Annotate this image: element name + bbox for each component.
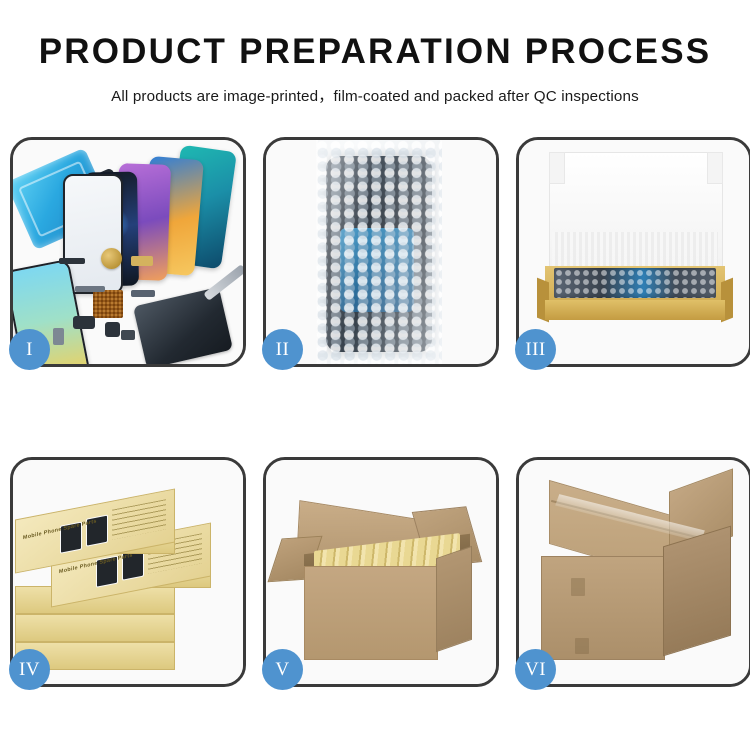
step-badge-3: III: [515, 329, 556, 370]
vibrator-icon: [121, 330, 135, 340]
step-panel-2: II: [263, 137, 499, 367]
step-badge-5: V: [262, 649, 303, 690]
sealed-carton-side: [663, 526, 731, 657]
step-6-image: [519, 460, 749, 684]
step-panel-6: VI: [516, 457, 750, 687]
camera-module-icon: [73, 316, 95, 329]
step-panel-3: III: [516, 137, 750, 367]
carton-front-face: [304, 566, 438, 660]
steps-grid: I II: [10, 137, 740, 687]
step-badge-1: I: [9, 329, 50, 370]
gold-connector-icon: [131, 256, 153, 266]
step-panel-5: V: [263, 457, 499, 687]
page-title: PRODUCT PREPARATION PROCESS: [0, 34, 750, 71]
step-panel-4: Mobile Phone Spare Parts Mobile Phone Sp…: [10, 457, 246, 687]
header: PRODUCT PREPARATION PROCESS All products…: [0, 0, 750, 106]
foam-liner-icon: [552, 232, 718, 270]
back-housing-icon: [133, 287, 233, 364]
carton-side-face: [436, 546, 472, 652]
sealed-carton-front: [541, 556, 665, 660]
chip-array-icon: [93, 290, 123, 318]
ribbon-cable-icon: [75, 286, 105, 292]
taptic-coil-icon: [101, 248, 122, 269]
step-1-image: [13, 140, 243, 364]
phone-fan-group: [73, 150, 243, 285]
step-badge-2: II: [262, 329, 303, 370]
step-3-image: [519, 140, 749, 364]
lid-flap-right: [707, 152, 723, 184]
sim-tray-icon: [53, 328, 64, 345]
bubble-wrapped-item-icon: [554, 268, 716, 298]
carton-handle-mark: [575, 638, 589, 654]
product-preparation-infographic: PRODUCT PREPARATION PROCESS All products…: [0, 0, 750, 750]
page-subtitle: All products are image-printed，film-coat…: [0, 84, 750, 106]
speaker-part-icon: [105, 322, 120, 337]
retail-box-stack: Mobile Phone Spare Parts Mobile Phone Sp…: [13, 474, 243, 684]
step-4-image: Mobile Phone Spare Parts Mobile Phone Sp…: [13, 460, 243, 684]
flex-cable-icon: [59, 258, 85, 264]
tray-front-face: [545, 300, 725, 320]
carton-handle-mark: [571, 578, 585, 596]
step-2-image: [266, 140, 496, 364]
spec-lines-print: [112, 499, 166, 539]
step-badge-6: VI: [515, 649, 556, 690]
step-5-image: [266, 460, 496, 684]
lid-flap-left: [549, 152, 565, 184]
step-panel-1: I: [10, 137, 246, 367]
antenna-flex-icon: [131, 290, 155, 297]
tempered-glass-icon: [63, 174, 123, 294]
retail-box-layer: [15, 614, 175, 642]
step-badge-4: IV: [9, 649, 50, 690]
plastic-sheen: [316, 140, 442, 364]
